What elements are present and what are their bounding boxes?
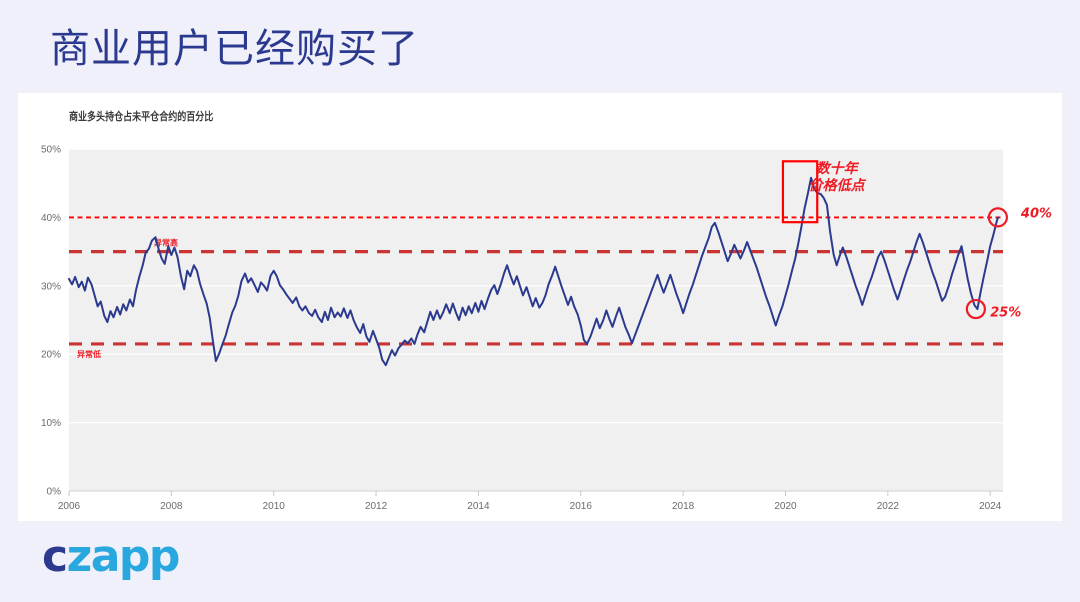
y-axis-tick-label: 30% bbox=[41, 281, 61, 292]
x-axis-tick-label: 2006 bbox=[58, 501, 81, 512]
x-axis-tick-label: 2008 bbox=[160, 501, 183, 512]
chart-annotation: 25% bbox=[990, 306, 1021, 321]
logo-c: c bbox=[42, 531, 67, 582]
chart-annotation: 数十年 bbox=[816, 160, 860, 177]
page-title: 商业用户已经购买了 bbox=[50, 25, 419, 73]
y-axis-tick-label: 10% bbox=[41, 418, 61, 429]
plot-area: 0%10%20%30%40%50%20062008201020122014201… bbox=[18, 93, 1062, 521]
y-axis-tick-label: 20% bbox=[41, 350, 61, 361]
chart-card: 商业多头持仓占未平仓合约的百分比 0%10%20%30%40%50%200620… bbox=[18, 93, 1062, 521]
y-axis-tick-label: 50% bbox=[41, 145, 61, 156]
x-axis-tick-label: 2024 bbox=[979, 501, 1002, 512]
x-axis-tick-label: 2012 bbox=[365, 501, 388, 512]
czapp-logo: czapp bbox=[42, 531, 179, 582]
x-axis-tick-label: 2016 bbox=[570, 501, 593, 512]
x-axis-tick-label: 2022 bbox=[877, 501, 900, 512]
x-axis-tick-label: 2020 bbox=[774, 501, 797, 512]
reference-line-label: 异常低 bbox=[77, 349, 101, 359]
slide-root: 商业用户已经购买了 商业多头持仓占未平仓合约的百分比 0%10%20%30%40… bbox=[0, 0, 1080, 602]
x-axis-tick-label: 2018 bbox=[672, 501, 695, 512]
chart-annotation: 价格低点 bbox=[809, 177, 867, 194]
y-axis-tick-label: 0% bbox=[47, 487, 62, 498]
line-chart: 0%10%20%30%40%50%20062008201020122014201… bbox=[18, 93, 1062, 521]
logo-zapp: zapp bbox=[67, 531, 179, 582]
chart-annotation: 40% bbox=[1020, 206, 1052, 221]
y-axis-tick-label: 40% bbox=[41, 213, 61, 224]
x-axis-tick-label: 2014 bbox=[467, 501, 490, 512]
x-axis-tick-label: 2010 bbox=[263, 501, 286, 512]
